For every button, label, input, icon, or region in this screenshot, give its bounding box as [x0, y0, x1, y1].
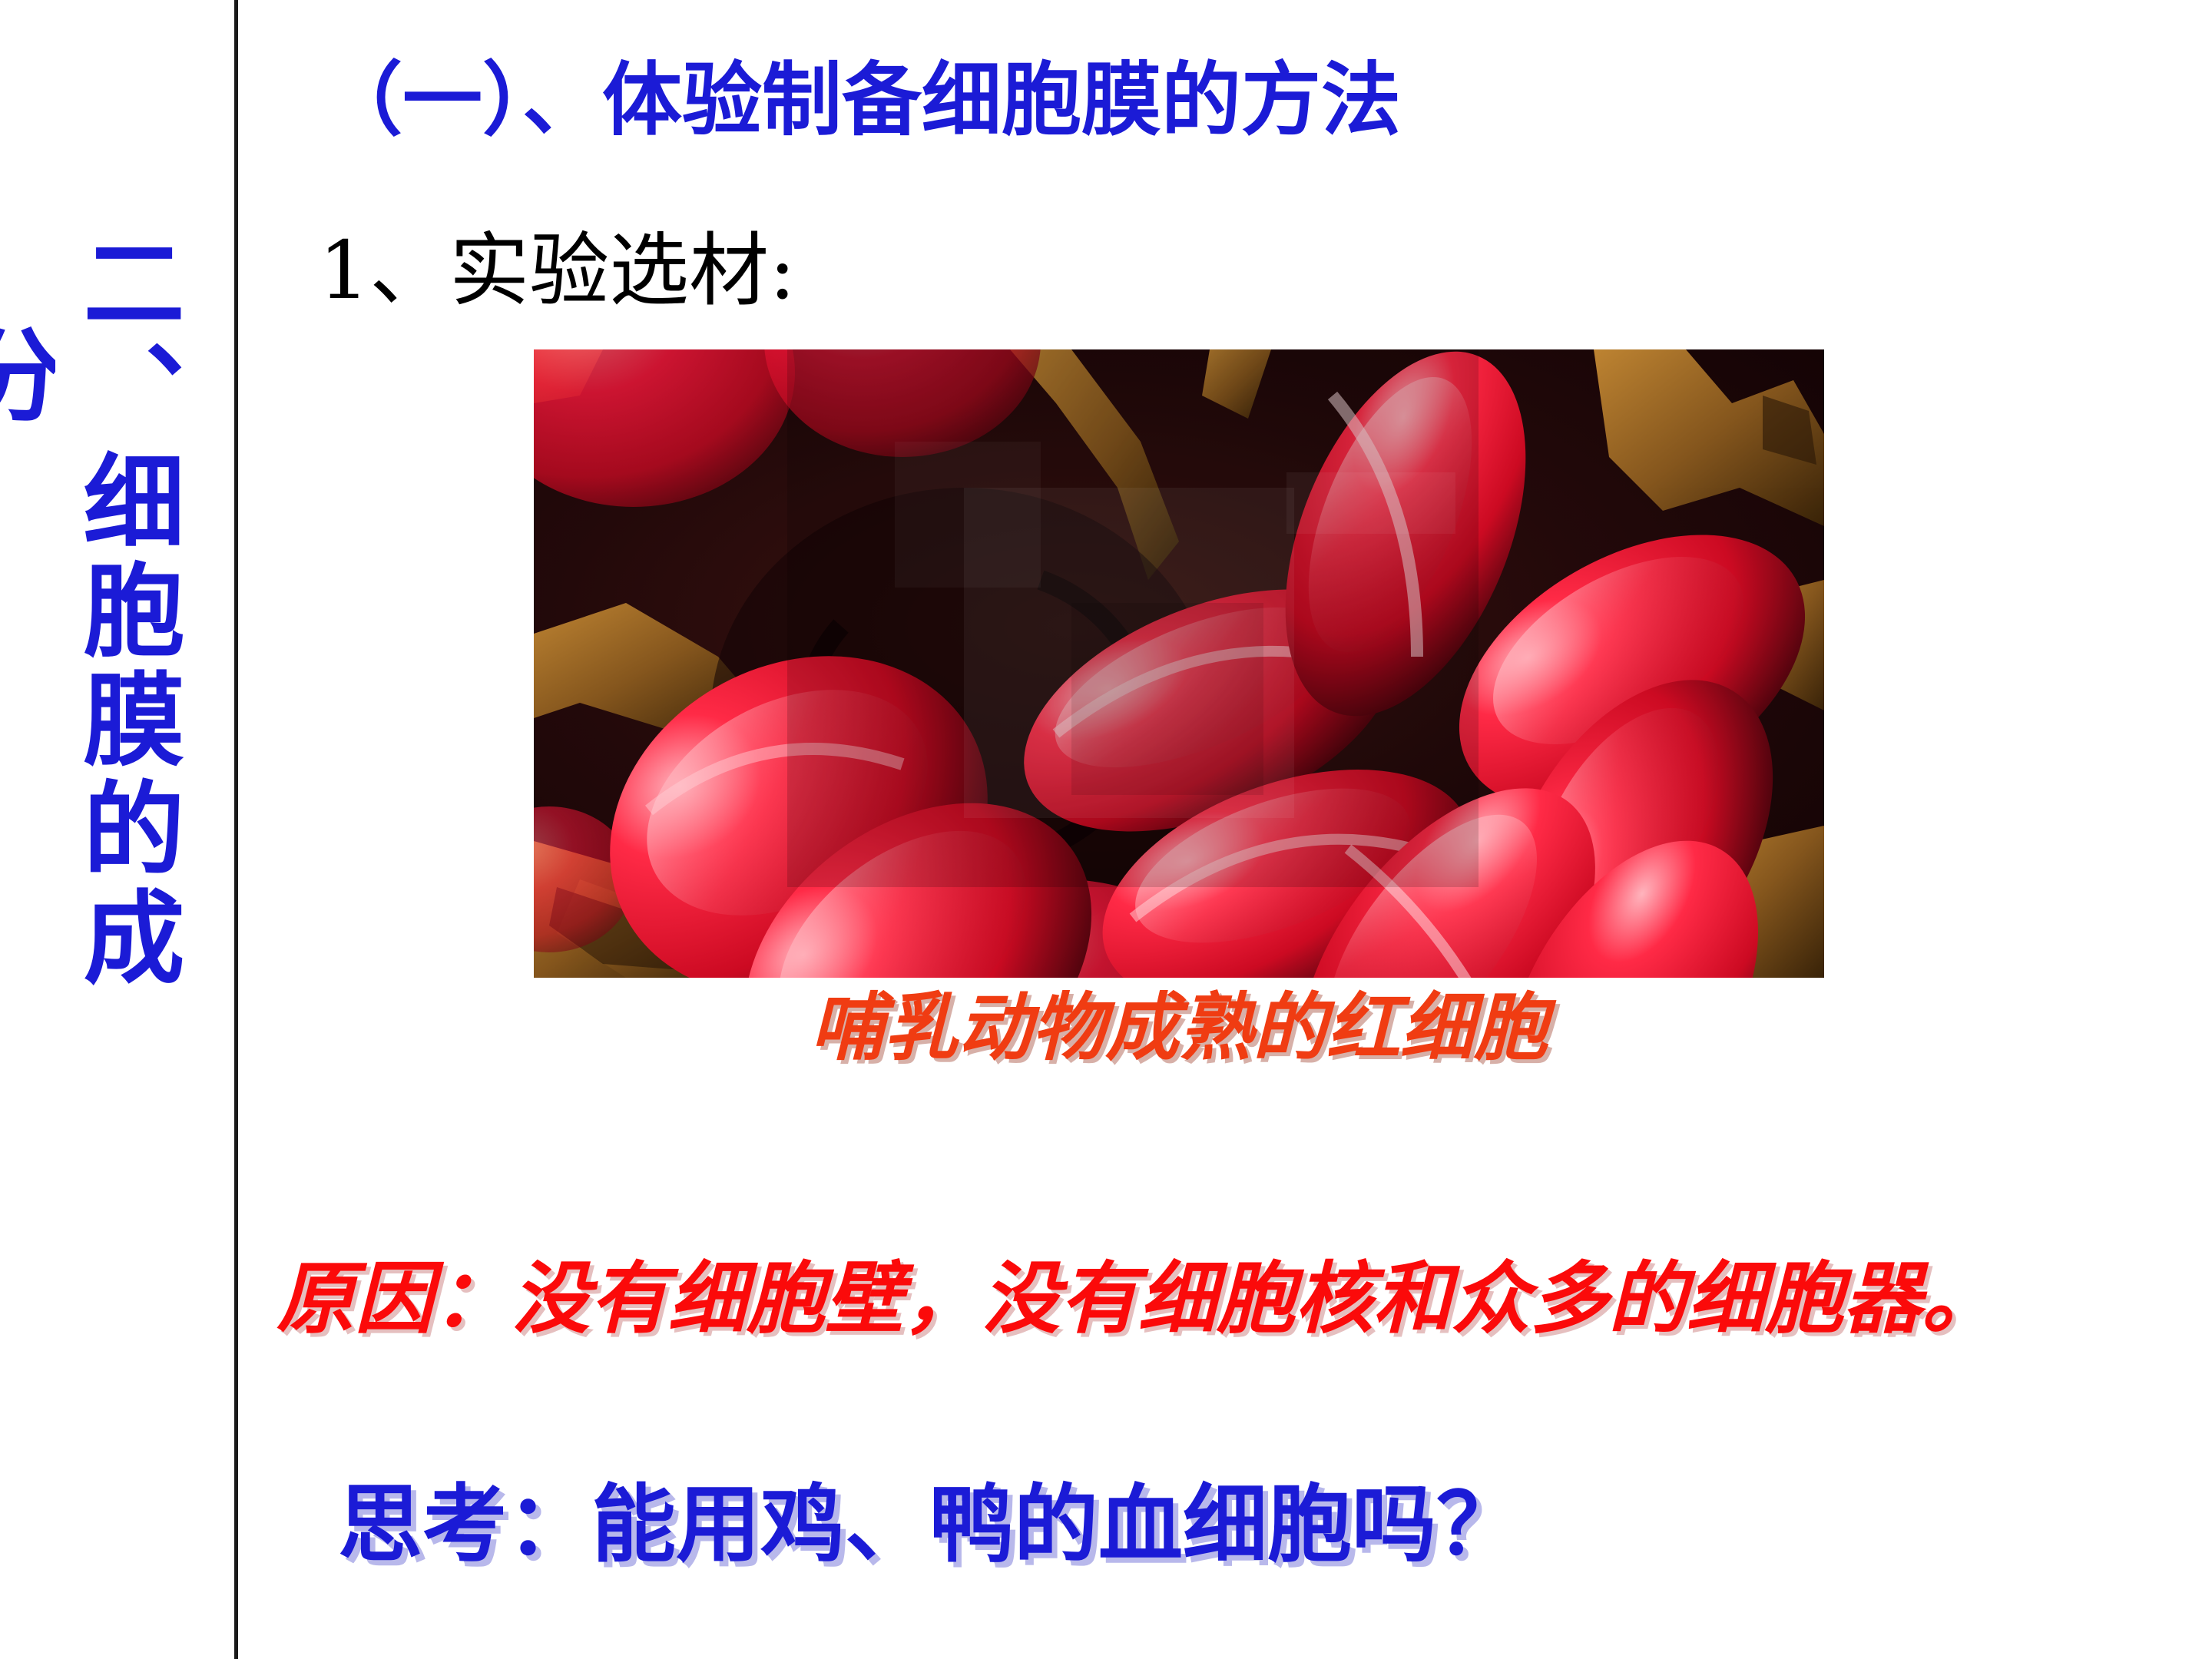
red-blood-cell-photo — [534, 349, 1824, 978]
photo-caption: 哺乳动物成熟的红细胞 — [588, 991, 1770, 1065]
red-blood-cell-illustration — [534, 349, 1824, 978]
sidebar-chapter-title: 二、细胞膜的成 — [54, 230, 177, 994]
sidebar: 分 二、细胞膜的成 — [0, 0, 237, 1659]
item-heading: 1、实验选材: — [319, 230, 796, 310]
section-heading: （一）、体验制备细胞膜的方法 — [323, 60, 1401, 140]
reason-text: 原因：没有细胞壁，没有细胞核和众多的细胞器。 — [276, 1260, 2000, 1338]
slide-content: （一）、体验制备细胞膜的方法 1、实验选材: — [238, 0, 2212, 1659]
sidebar-cutoff-glyph: 分 — [0, 323, 55, 469]
question-text: 思考：能用鸡、鸭的血细胞吗？ — [338, 1482, 1521, 1567]
